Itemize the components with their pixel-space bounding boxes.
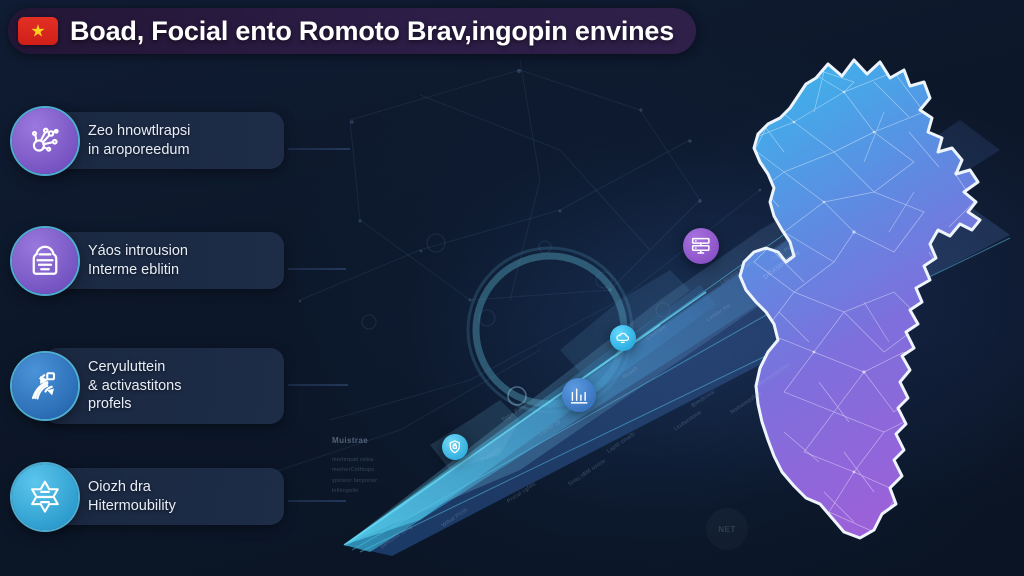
network-nodes-icon [27,123,63,159]
feature-card-2[interactable]: Yáos introusion Interme eblitin [44,232,284,289]
vietnam-map [724,52,1024,564]
badge-lock-shield[interactable] [442,434,468,460]
card-connector [288,148,350,150]
card-connector [288,268,346,270]
card-label-3: Ceryuluttein & activastitons profels [88,358,182,414]
card-badge-3 [12,353,78,419]
card-badge-1 [12,108,78,174]
star-glyph: ★ [30,23,47,40]
header-banner: ★ Boad, Focial ento Romoto Brav,ingopin … [8,8,696,54]
feature-card-3[interactable]: Ceryuluttein & activastitons profels [44,348,284,424]
card-connector [288,500,346,502]
card-label-2: Yáos introusion Interme eblitin [88,242,188,279]
feature-card-4[interactable]: Oiozh dra Hitermoubility [44,468,284,525]
feature-card-1[interactable]: Zeo hnowtlrapsi in aroporeedum [44,112,284,169]
watermark: NET [706,508,748,550]
card-badge-4 [12,464,78,530]
badge-analytics[interactable] [562,378,596,412]
infographic-canvas: palvonta serig Wlbal Prish Prizial cgfws… [0,0,1024,576]
shield-lock-icon [27,243,63,279]
page-title: Boad, Focial ento Romoto Brav,ingopin en… [70,16,674,47]
analytics-icon [569,385,589,405]
badge-server-rack[interactable] [683,228,719,264]
data-flow-icon [27,368,63,404]
cloud-sync-icon [615,330,631,346]
star-network-icon [27,479,63,515]
card-connector [288,384,348,386]
badge-cloud-sync[interactable] [610,325,636,351]
card-label-1: Zeo hnowtlrapsi in aroporeedum [88,122,190,159]
vietnam-flag-icon: ★ [18,17,58,45]
lock-shield-icon [447,439,463,455]
server-rack-icon [690,235,712,257]
card-label-4: Oiozh dra Hitermoubility [88,478,176,515]
card-badge-2 [12,228,78,294]
